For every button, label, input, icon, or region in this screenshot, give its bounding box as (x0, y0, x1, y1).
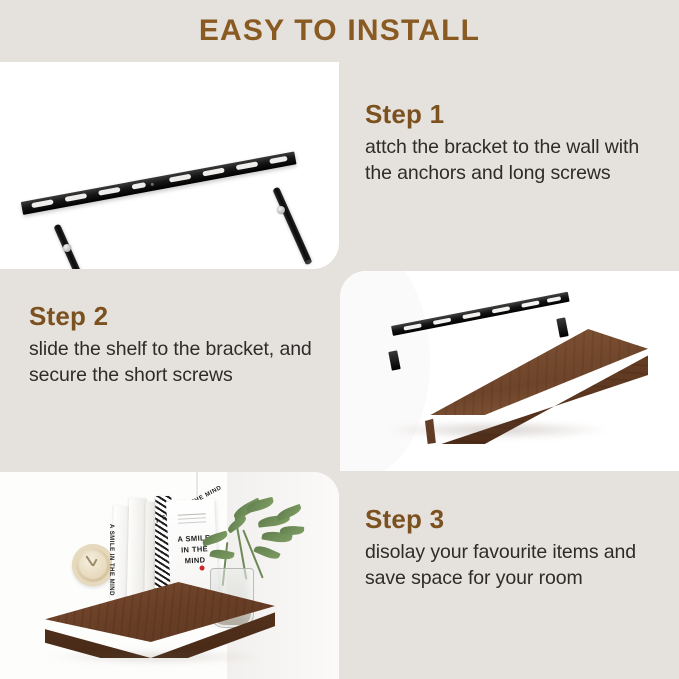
bracket-bar-icon (21, 151, 297, 214)
step-2-text: Step 2 slide the shelf to the bracket, a… (29, 302, 329, 389)
shelf-with-bracket-illustration (340, 271, 679, 471)
step-2-heading: Step 2 (29, 302, 329, 332)
step-1-text: Step 1 attch the bracket to the wall wit… (365, 100, 665, 187)
step-3-text: Step 3 disolay your favourite items and … (365, 505, 670, 592)
bracket-support-rod-left (53, 224, 93, 269)
product-infographic: EASY TO INSTALL Step 1 attch the bra (0, 0, 679, 679)
step-1-image-panel (0, 62, 339, 269)
step-2-image-panel (340, 271, 679, 471)
bracket-screw-right (277, 206, 285, 214)
step-3-heading: Step 3 (365, 505, 670, 535)
bracket-illustration (0, 62, 339, 269)
shelf-drop-shadow (48, 650, 263, 664)
shelf-drop-shadow (382, 421, 612, 439)
step-3-body: disolay your favourite items and save sp… (365, 539, 670, 592)
bracket-support-rod-right (272, 187, 312, 265)
title-bar: EASY TO INSTALL (0, 0, 679, 62)
step-1-heading: Step 1 (365, 100, 665, 130)
styled-shelf-illustration: A SMILE IN THE MIND A SMILE IN THE MIND … (0, 472, 339, 679)
step-2-body: slide the shelf to the bracket, and secu… (29, 336, 329, 389)
book-spine-title: A SMILE IN THE MIND (108, 524, 114, 596)
step-1-body: attch the bracket to the wall with the a… (365, 134, 665, 187)
shelf-top-surface (376, 329, 648, 415)
page-title: EASY TO INSTALL (199, 14, 480, 48)
bracket-screw-left (63, 244, 71, 252)
step-3-image-panel: A SMILE IN THE MIND A SMILE IN THE MIND … (0, 472, 339, 679)
